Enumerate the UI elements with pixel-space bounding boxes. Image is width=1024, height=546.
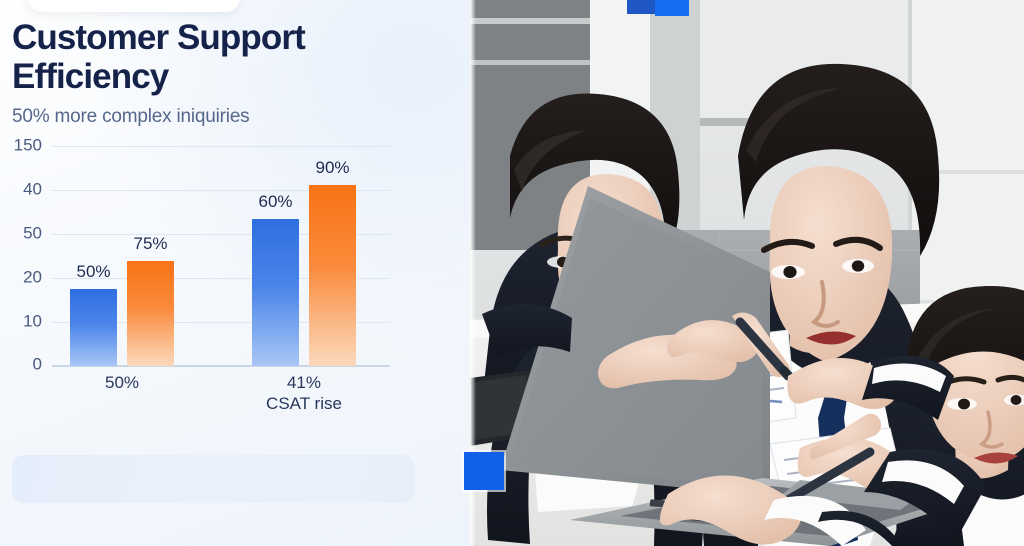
bar-group-1: 50% 75%: [70, 146, 174, 366]
accent-square-seam: [464, 452, 504, 490]
slide-canvas: Customer Support Efficiency 50% more com…: [0, 0, 1024, 546]
top-card-fragment: [28, 0, 240, 12]
bar-slot: 50%: [70, 146, 117, 366]
x-label-line2: CSAT rise: [266, 393, 342, 414]
y-axis-tick-label: 150: [14, 136, 42, 156]
accent-square-top-right: [655, 0, 689, 16]
x-axis-label-group2: 41% CSAT rise: [266, 372, 342, 415]
left-content-panel: Customer Support Efficiency 50% more com…: [0, 0, 470, 546]
x-label-line1: 41%: [287, 373, 321, 392]
chart-plot-area: 150 40 50 20 10 0: [52, 146, 390, 366]
bar-blue-group1[interactable]: 50%: [70, 289, 117, 366]
heading-block: Customer Support Efficiency 50% more com…: [12, 18, 442, 128]
bar-slot: 60%: [252, 146, 299, 366]
x-axis-labels: 50% 41% CSAT rise: [52, 372, 390, 430]
bar-value-label: 50%: [76, 262, 110, 282]
bar-chart: 150 40 50 20 10 0: [0, 146, 420, 436]
y-axis-tick-label: 50: [23, 224, 42, 244]
bar-blue-group2[interactable]: 60%: [252, 219, 299, 366]
x-axis-label-group1: 50%: [105, 372, 139, 393]
bar-value-label: 90%: [315, 158, 349, 178]
page-subtitle: 50% more complex iniquiries: [12, 106, 442, 128]
accent-square-top-left: [627, 0, 655, 14]
y-axis-tick-label: 10: [23, 312, 42, 332]
meeting-photo: [470, 0, 1024, 546]
bar-group-2: 60% 90%: [252, 146, 356, 366]
bar-series-container: 50% 75% 60%: [52, 146, 390, 366]
page-title: Customer Support Efficiency: [12, 18, 442, 96]
bar-value-label: 75%: [133, 234, 167, 254]
bar-value-label: 60%: [258, 192, 292, 212]
bar-slot: 75%: [127, 146, 174, 366]
content-placeholder-bar: [12, 455, 415, 503]
bar-slot: 90%: [309, 146, 356, 366]
bar-orange-group2[interactable]: 90%: [309, 185, 356, 366]
y-axis-tick-label: 20: [23, 268, 42, 288]
x-label-line1: 50%: [105, 373, 139, 392]
y-axis-tick-label: 0: [33, 355, 42, 375]
y-axis-tick-label: 40: [23, 180, 42, 200]
bar-orange-group1[interactable]: 75%: [127, 261, 174, 366]
